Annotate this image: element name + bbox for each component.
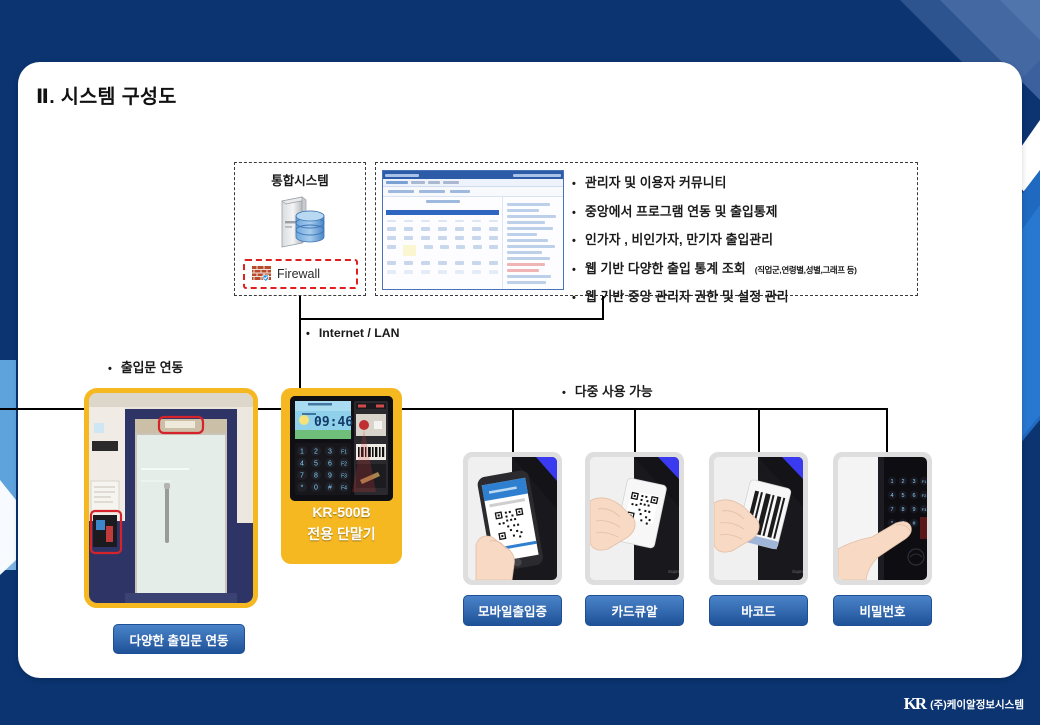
qr-card-reader-photo: Suprema (590, 457, 679, 580)
connector-drop-1 (512, 408, 514, 454)
feature-item: • 중앙에서 프로그램 연동 및 출입통제 (572, 201, 914, 220)
svg-text:5: 5 (314, 461, 318, 468)
svg-text:*: * (301, 485, 304, 492)
multi-use-text: 다중 사용 가능 (575, 381, 653, 400)
feature-item: • 웹 기반 다양한 출입 통계 조회 (직업군,연령별,성별,그래프 등) (572, 258, 914, 277)
svg-text:#: # (328, 485, 332, 492)
feature-text: 웹 기반 다양한 출입 통계 조회 (585, 258, 746, 277)
device-label-password[interactable]: 비밀번호 (833, 595, 932, 626)
svg-text:4: 4 (300, 461, 304, 468)
firewall-label: Firewall (277, 267, 320, 281)
feature-text: 중앙에서 프로그램 연동 및 출입통제 (585, 201, 778, 220)
company-name: (주)케이알정보시스템 (930, 697, 1024, 712)
door-link-button[interactable]: 다양한 출입문 연동 (113, 624, 245, 654)
feature-item: • 관리자 및 이용자 커뮤니티 (572, 172, 914, 191)
svg-text:9: 9 (912, 507, 915, 513)
device-label-mobile[interactable]: 모바일출입증 (463, 595, 562, 626)
door-link-text: 출입문 연동 (121, 357, 183, 376)
svg-text:Suprema: Suprema (792, 569, 803, 574)
svg-text:7: 7 (890, 507, 893, 513)
svg-text:8: 8 (314, 473, 318, 480)
internet-lan-text: Internet / LAN (319, 326, 400, 340)
feature-note: (직업군,연령별,성별,그래프 등) (755, 264, 857, 276)
connector-drop-4 (886, 408, 888, 454)
svg-text:6: 6 (912, 493, 915, 499)
svg-text:4: 4 (890, 493, 893, 499)
device-card-mobile (463, 452, 562, 585)
svg-text:3: 3 (912, 479, 915, 485)
bullet-icon: • (562, 387, 566, 399)
svg-text:F4: F4 (341, 486, 347, 492)
svg-text:1: 1 (300, 449, 304, 456)
features-list: • 관리자 및 이용자 커뮤니티 • 중앙에서 프로그램 연동 및 출입통제 •… (572, 172, 914, 315)
company-logo: KR (주)케이알정보시스템 (904, 694, 1024, 714)
feature-item: • 인가자 , 비인가자, 만기자 출입관리 (572, 229, 914, 248)
door-photo-card (84, 388, 258, 608)
svg-text:2: 2 (314, 449, 318, 456)
integrated-system-title: 통합시스템 (234, 170, 366, 189)
svg-text:7: 7 (300, 473, 304, 480)
multi-use-label: • 다중 사용 가능 (562, 381, 653, 400)
keypad-finger-photo: 1 2 3 F1 4 5 6 F2 7 8 9 F3 * 0 # (838, 457, 927, 580)
svg-text:F1: F1 (922, 479, 927, 484)
web-dashboard-screenshot (382, 170, 564, 290)
internet-lan-label: • Internet / LAN (306, 326, 399, 340)
bullet-icon: • (108, 363, 112, 375)
svg-text:Suprema: Suprema (668, 569, 679, 574)
mobile-qr-phone-photo (468, 457, 557, 580)
feature-text: 인가자 , 비인가자, 만기자 출입관리 (585, 229, 773, 248)
svg-text:F2: F2 (922, 493, 927, 498)
svg-text:F2: F2 (341, 462, 347, 468)
connector-drop-3 (758, 408, 760, 454)
feature-text: 관리자 및 이용자 커뮤니티 (585, 172, 727, 191)
terminal-card: 09:46 (281, 388, 402, 564)
feature-text: 웹 기반 중앙 관리자 권한 및 설정 관리 (585, 286, 789, 305)
device-card-qr: Suprema (585, 452, 684, 585)
page-title: Ⅱ. 시스템 구성도 (36, 80, 177, 109)
svg-text:F3: F3 (922, 507, 927, 512)
kr-500b-terminal-photo: 09:46 (290, 396, 393, 501)
connector-sys-down (299, 296, 301, 320)
connector-join-horizontal (299, 318, 604, 320)
bullet-icon: • (572, 293, 576, 304)
bullet-icon: • (572, 265, 576, 276)
connector-feat-down (602, 296, 604, 320)
barcode-card-photo: Suprema (714, 457, 803, 580)
terminal-model-label: KR-500B (281, 504, 402, 522)
svg-text:6: 6 (328, 461, 332, 468)
kr-logo-mark: KR (904, 694, 926, 714)
svg-text:09:46: 09:46 (314, 415, 353, 430)
device-card-barcode: Suprema (709, 452, 808, 585)
device-card-password: 1 2 3 F1 4 5 6 F2 7 8 9 F3 * 0 # (833, 452, 932, 585)
bullet-icon: • (572, 179, 576, 190)
server-database-icon (272, 195, 330, 253)
bullet-icon: • (306, 328, 310, 340)
svg-text:0: 0 (314, 485, 318, 492)
svg-text:1: 1 (890, 479, 893, 485)
svg-text:9: 9 (328, 473, 332, 480)
firewall-box: Firewall (243, 259, 358, 289)
svg-text:2: 2 (901, 479, 904, 485)
svg-text:F1: F1 (341, 450, 347, 456)
connector-drop-2 (634, 408, 636, 454)
svg-text:3: 3 (328, 449, 332, 456)
feature-item: • 웹 기반 중앙 관리자 권한 및 설정 관리 (572, 286, 914, 305)
bullet-icon: • (572, 236, 576, 247)
automatic-glass-door-photo (89, 393, 253, 603)
terminal-subtitle-label: 전용 단말기 (281, 524, 402, 544)
svg-text:F3: F3 (341, 474, 347, 480)
brick-wall-shield-icon (252, 266, 271, 282)
bullet-icon: • (572, 208, 576, 219)
svg-text:5: 5 (901, 493, 904, 499)
device-label-qr[interactable]: 카드큐알 (585, 595, 684, 626)
svg-text:8: 8 (901, 507, 904, 513)
device-label-barcode[interactable]: 바코드 (709, 595, 808, 626)
door-link-label: • 출입문 연동 (108, 357, 183, 376)
